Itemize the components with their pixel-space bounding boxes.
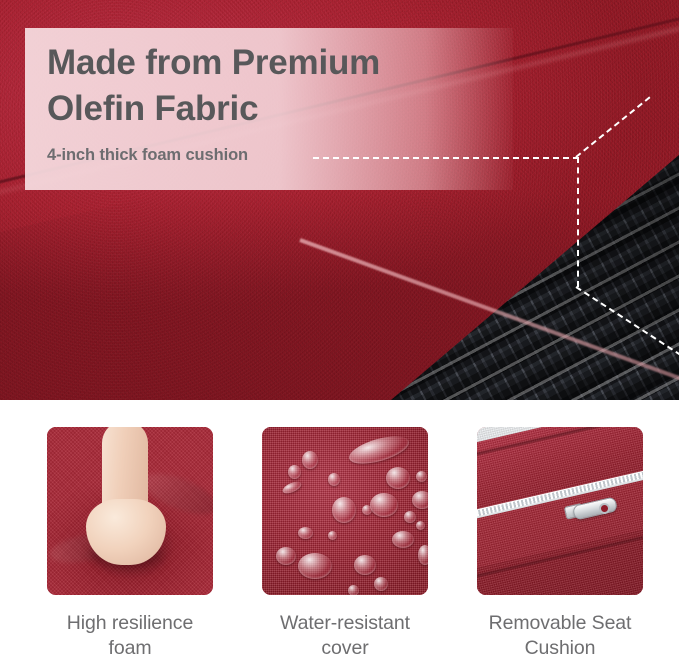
feature-item-removable-seat-cushion: Removable Seat Cushion (477, 427, 643, 661)
feature-thumbnail-water (262, 427, 428, 595)
fist-shape (86, 499, 166, 565)
water-droplet (370, 493, 398, 517)
water-droplet (386, 467, 410, 489)
water-droplet (392, 531, 414, 548)
water-droplet (298, 527, 313, 539)
feature-caption-line-2: cover (262, 636, 428, 661)
callout-leader-horizontal (313, 157, 579, 159)
feature-caption-zipper: Removable Seat Cushion (477, 611, 643, 661)
feature-caption-line-1: Removable Seat (477, 611, 643, 636)
hero-headline-line-2: Olefin Fabric (47, 86, 517, 132)
feature-thumbnail-foam (47, 427, 213, 595)
water-droplet (416, 471, 427, 482)
water-droplet (276, 547, 296, 565)
water-droplet (418, 545, 428, 565)
feature-caption-line-1: High resilience (47, 611, 213, 636)
water-droplet (298, 553, 332, 579)
hero-product-photo: Made from Premium Olefin Fabric 4-inch t… (0, 0, 679, 400)
feature-caption-line-2: Cushion (477, 636, 643, 661)
hero-subline: 4-inch thick foam cushion (47, 146, 248, 165)
feature-caption-line-2: foam (47, 636, 213, 661)
feature-thumbnail-zipper (477, 427, 643, 595)
water-droplet (332, 497, 356, 523)
water-droplet (412, 491, 428, 509)
water-droplet (362, 505, 372, 515)
hero-headline-line-1: Made from Premium (47, 40, 517, 86)
feature-strip: High resilience foam (0, 400, 679, 652)
feature-item-water-resistant-cover: Water-resistant cover (262, 427, 428, 661)
water-droplet (404, 511, 416, 523)
water-droplet (374, 577, 388, 591)
feature-caption-water: Water-resistant cover (262, 611, 428, 661)
feature-item-high-resilience-foam: High resilience foam (47, 427, 213, 661)
feature-caption-line-1: Water-resistant (262, 611, 428, 636)
water-droplet (302, 451, 318, 469)
water-droplet (328, 531, 337, 540)
hero-headline: Made from Premium Olefin Fabric (47, 40, 517, 131)
water-droplet (348, 585, 359, 595)
feature-caption-foam: High resilience foam (47, 611, 213, 661)
water-droplet (354, 555, 376, 575)
callout-leader-vertical (577, 157, 579, 287)
water-droplet (288, 465, 301, 479)
water-droplet (328, 473, 340, 486)
water-droplet (416, 521, 425, 530)
